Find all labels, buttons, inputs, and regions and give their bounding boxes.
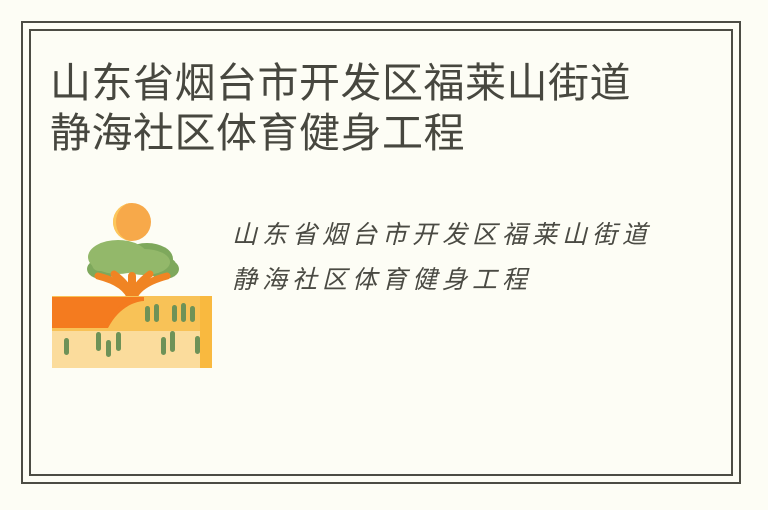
ground-icon: [52, 296, 212, 368]
poster-canvas: 山东省烟台市开发区福莱山街道 静海社区体育健身工程: [0, 0, 768, 510]
calligraphy-caption: 山东省烟台市开发区福莱山街道 静海社区体育健身工程: [232, 212, 662, 302]
sun-icon: [113, 203, 151, 241]
page-title: 山东省烟台市开发区福莱山街道 静海社区体育健身工程: [50, 58, 670, 158]
savanna-tree-illustration: [52, 198, 212, 370]
